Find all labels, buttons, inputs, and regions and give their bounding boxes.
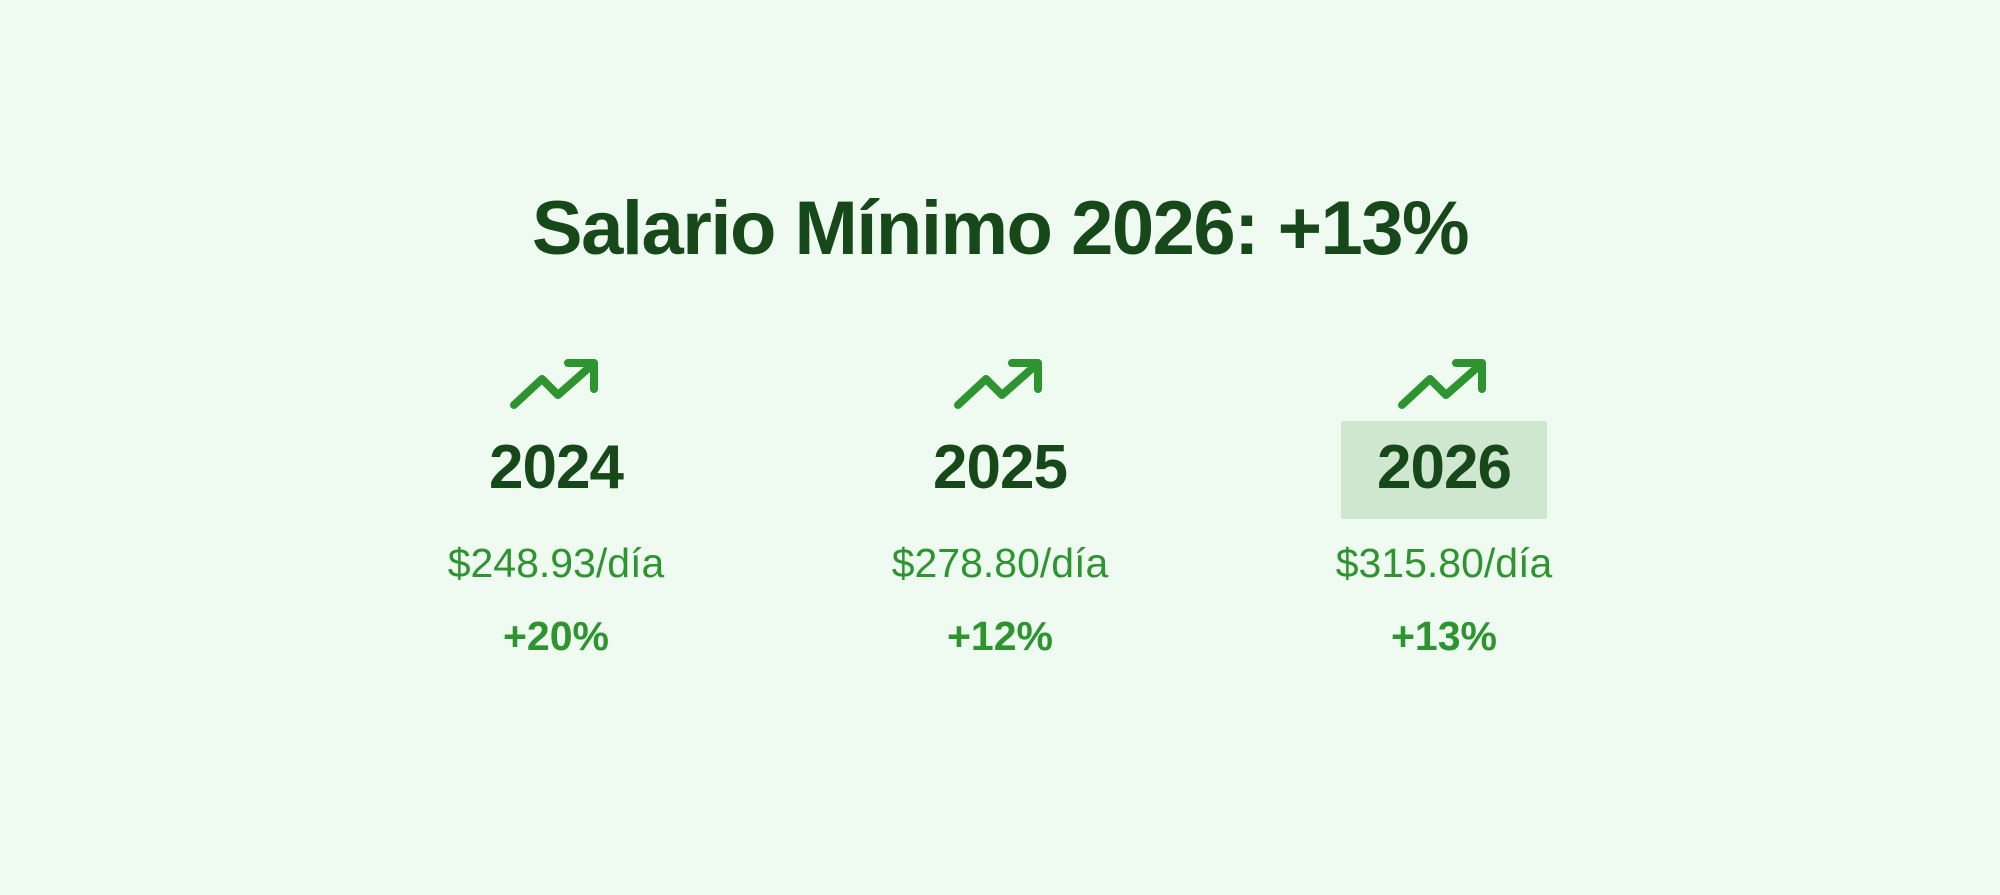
year-badge-2024: 2024: [453, 421, 659, 519]
year-column-2025: 2025 $278.80/día +12%: [850, 355, 1150, 659]
trending-up-icon: [952, 355, 1048, 411]
daily-wage-amount: $315.80/día: [1336, 541, 1553, 586]
year-label: 2024: [489, 437, 623, 499]
year-column-2024: 2024 $248.93/día +20%: [406, 355, 706, 659]
increase-percentage: +13%: [1391, 614, 1497, 659]
year-column-2026: 2026 $315.80/día +13%: [1294, 355, 1594, 659]
page-title: Salario Mínimo 2026: +13%: [532, 191, 1468, 267]
infographic-canvas: Salario Mínimo 2026: +13% 2024 $248.93/d…: [0, 0, 2000, 895]
year-columns-container: 2024 $248.93/día +20% 2025 $278.80/día +…: [0, 355, 2000, 659]
page-title-container: Salario Mínimo 2026: +13%: [0, 140, 2000, 318]
trending-up-icon: [1396, 355, 1492, 411]
daily-wage-amount: $278.80/día: [892, 541, 1109, 586]
daily-wage-amount: $248.93/día: [448, 541, 665, 586]
year-badge-2026-highlighted: 2026: [1341, 421, 1547, 519]
increase-percentage: +20%: [503, 614, 609, 659]
increase-percentage: +12%: [947, 614, 1053, 659]
trending-up-icon: [508, 355, 604, 411]
year-label: 2026: [1377, 437, 1511, 499]
year-label: 2025: [933, 437, 1067, 499]
year-badge-2025: 2025: [897, 421, 1103, 519]
